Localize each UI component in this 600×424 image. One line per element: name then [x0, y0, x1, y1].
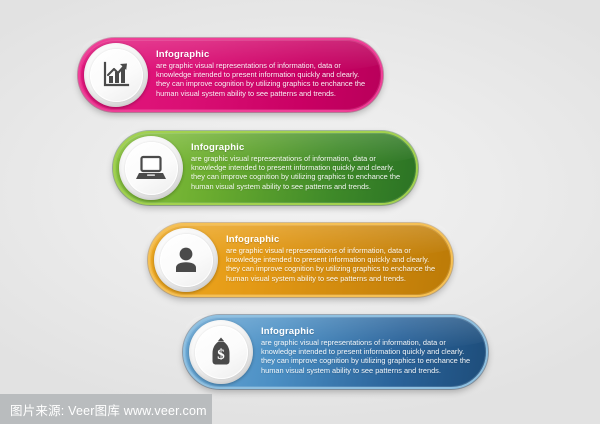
infographic-row-green[interactable]: Infographic are graphic visual represent…: [113, 131, 418, 205]
row-heading: Infographic: [226, 234, 440, 245]
svg-text:$: $: [217, 347, 225, 363]
row-heading: Infographic: [156, 49, 370, 60]
row-text-block: Infographic are graphic visual represent…: [191, 142, 405, 191]
icon-badge[interactable]: [84, 43, 148, 107]
row-body-text: are graphic visual representations of in…: [226, 246, 440, 283]
icon-badge[interactable]: $: [189, 320, 253, 384]
infographic-canvas: Infographic are graphic visual represent…: [0, 0, 600, 424]
bar-chart-growth-icon: [101, 60, 131, 90]
infographic-row-orange[interactable]: Infographic are graphic visual represent…: [148, 223, 453, 297]
infographic-row-pink[interactable]: Infographic are graphic visual represent…: [78, 38, 383, 112]
icon-badge[interactable]: [154, 228, 218, 292]
row-text-block: Infographic are graphic visual represent…: [156, 49, 370, 98]
watermark-text: 图片来源: Veer图库 www.veer.com: [0, 400, 207, 419]
row-heading: Infographic: [261, 326, 475, 337]
icon-badge-inner: [160, 234, 213, 287]
row-body-text: are graphic visual representations of in…: [261, 338, 475, 375]
icon-badge-inner: [90, 49, 143, 102]
row-heading: Infographic: [191, 142, 405, 153]
laptop-icon: [135, 153, 167, 183]
money-bag-dollar-icon: $: [208, 336, 234, 368]
person-user-icon: [172, 245, 200, 275]
icon-badge[interactable]: [119, 136, 183, 200]
row-text-block: Infographic are graphic visual represent…: [226, 234, 440, 283]
row-body-text: are graphic visual representations of in…: [191, 154, 405, 191]
row-text-block: Infographic are graphic visual represent…: [261, 326, 475, 375]
watermark-bar: 图片来源: Veer图库 www.veer.com: [0, 394, 212, 424]
row-body-text: are graphic visual representations of in…: [156, 61, 370, 98]
icon-badge-inner: [125, 142, 178, 195]
infographic-row-blue[interactable]: $ Infographic are graphic visual represe…: [183, 315, 488, 389]
icon-badge-inner: $: [195, 326, 248, 379]
